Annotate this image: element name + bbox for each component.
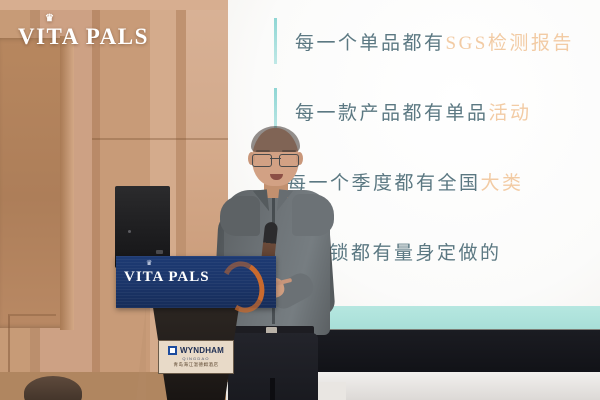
hotel-chinese-text: 青岛海江温德姆酒店 (174, 362, 219, 368)
speaker-led-icon (128, 230, 131, 233)
accent-bar-icon (274, 18, 277, 64)
slide-line-1-text: 每一个单品都有SGS检测报告 (295, 28, 574, 55)
podium: ♛ VITA PALS WYNDHAM QINGDAO 青岛海江温德姆酒店 (106, 256, 276, 400)
shirt-collar-left (253, 189, 269, 212)
crown-icon: ♛ (146, 259, 152, 267)
glasses-icon (252, 154, 299, 166)
podium-body-edge (136, 306, 146, 400)
wyndham-mark-icon (168, 346, 177, 355)
glasses-bridge (270, 158, 281, 159)
shirt-collar-right (277, 189, 293, 212)
wall-trim-top (0, 0, 228, 10)
wall-recess-edge (60, 36, 74, 330)
crown-icon: ♛ (45, 14, 55, 24)
presenter-right-shoulder (292, 194, 334, 236)
hotel-name-plate: WYNDHAM QINGDAO 青岛海江温德姆酒店 (158, 340, 234, 374)
hotel-city-text: QINGDAO (182, 356, 209, 361)
podium-brand-text: VITA PALS (124, 269, 210, 286)
slide-line-1: 每一个单品都有SGS检测报告 (274, 18, 574, 64)
presenter-brow-left (256, 150, 270, 152)
hotel-name-text: WYNDHAM (180, 346, 224, 355)
presenter-hair (251, 126, 300, 152)
presenter-brow-right (282, 150, 296, 152)
slide-line-2-text: 每一款产品都有单品活动 (295, 98, 532, 125)
presentation-photo: 每一个单品都有SGS检测报告 每一款产品都有单品活动 每一个季度都有全国大类 一… (0, 0, 600, 400)
hotel-plate-top: WYNDHAM (168, 346, 224, 355)
brand-watermark: ♛ VITA PALS (18, 24, 149, 50)
watermark-text: VITA PALS (18, 24, 149, 49)
